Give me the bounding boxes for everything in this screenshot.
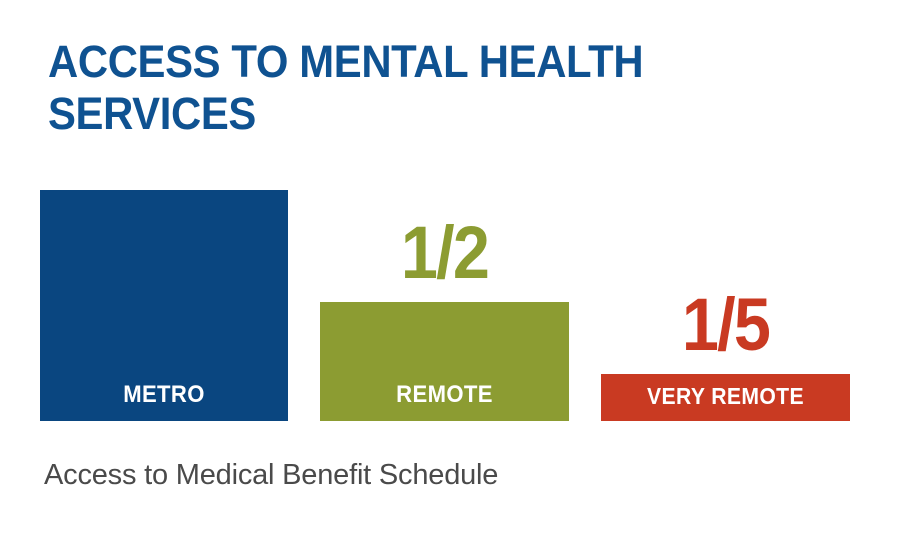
- bar-label-remote: REMOTE: [330, 381, 559, 409]
- bar-group-metro[interactable]: METRO: [40, 190, 288, 421]
- bar-label-metro: METRO: [50, 381, 278, 409]
- infographic-canvas: ACCESS TO MENTAL HEALTH SERVICES METRO 1…: [0, 0, 900, 544]
- bar-group-remote[interactable]: 1/2 REMOTE: [320, 302, 569, 421]
- chart-caption: Access to Medical Benefit Schedule: [44, 458, 498, 492]
- value-label-remote: 1/2: [332, 216, 556, 290]
- bar-group-very-remote[interactable]: 1/5 VERY REMOTE: [601, 374, 850, 421]
- value-label-very-remote: 1/5: [613, 288, 837, 362]
- bar-label-very-remote: VERY REMOTE: [611, 383, 840, 410]
